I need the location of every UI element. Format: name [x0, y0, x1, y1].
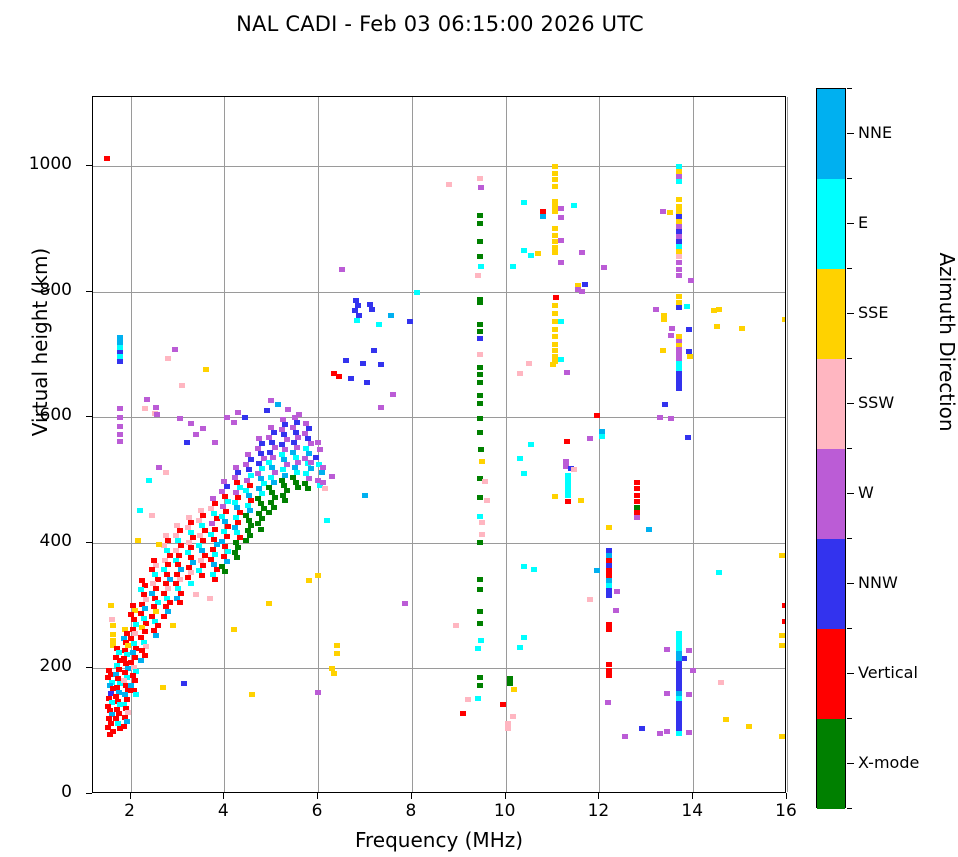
echo-point	[475, 273, 481, 278]
echo-point	[104, 156, 110, 161]
echo-point	[594, 413, 600, 418]
echo-point	[606, 673, 612, 678]
echo-point	[779, 633, 785, 638]
colorbar-label-nne: NNE	[858, 123, 892, 142]
echo-point	[660, 348, 666, 353]
x-tick-label: 4	[201, 801, 245, 821]
echo-point	[477, 393, 483, 398]
echo-point	[477, 683, 483, 688]
echo-point	[200, 426, 206, 431]
echo-point	[477, 577, 483, 582]
echo-point	[535, 251, 541, 256]
echo-point	[369, 307, 375, 312]
echo-point	[475, 646, 481, 651]
echo-point	[407, 319, 413, 324]
echo-point	[295, 485, 301, 490]
colorbar-boundary-tick	[847, 268, 852, 269]
echo-point	[782, 603, 785, 608]
echo-point	[153, 405, 159, 410]
echo-point	[582, 282, 588, 287]
echo-point	[668, 416, 674, 421]
echo-point	[460, 711, 466, 716]
echo-point	[315, 690, 321, 695]
echo-point	[477, 336, 483, 341]
ionogram-figure: { "title": "NAL CADI - Feb 03 06:15:00 2…	[0, 0, 958, 857]
echo-point	[477, 221, 483, 226]
echo-point	[135, 538, 141, 543]
echo-point	[664, 729, 670, 734]
echo-point	[117, 415, 123, 420]
y-tick	[86, 542, 92, 543]
x-tick-label: 12	[576, 801, 620, 821]
echo-point	[154, 412, 160, 417]
echo-point	[528, 253, 534, 258]
echo-point	[478, 185, 484, 190]
echo-point	[484, 498, 490, 503]
echo-point	[149, 513, 155, 518]
echo-point	[690, 668, 696, 673]
echo-point	[686, 692, 692, 697]
echo-point	[521, 635, 527, 640]
echo-point	[676, 731, 682, 736]
echo-point	[243, 538, 249, 543]
echo-point	[552, 233, 558, 238]
colorbar	[816, 88, 846, 808]
echo-point	[676, 254, 682, 259]
echo-point	[685, 435, 691, 440]
x-tick-label: 16	[764, 801, 808, 821]
echo-point	[661, 317, 667, 322]
echo-point	[477, 540, 483, 545]
echo-point	[331, 671, 337, 676]
echo-point	[371, 348, 377, 353]
echo-point	[711, 308, 717, 313]
echo-point	[676, 273, 682, 278]
echo-point	[177, 416, 183, 421]
echo-point	[109, 617, 115, 622]
colorbar-boundary-tick	[847, 538, 852, 539]
y-axis-title: Virtual height (km)	[28, 177, 52, 507]
echo-point	[188, 581, 194, 586]
echo-point	[684, 304, 690, 309]
echo-point	[170, 623, 176, 628]
echo-point	[553, 295, 559, 300]
echo-point	[477, 322, 483, 327]
echo-point	[686, 648, 692, 653]
echo-point	[521, 200, 527, 205]
echo-point	[475, 696, 481, 701]
echo-point	[517, 645, 523, 650]
y-tick	[86, 416, 92, 417]
echo-point	[479, 532, 485, 537]
echo-point	[266, 601, 272, 606]
echo-point	[477, 176, 483, 181]
echo-point	[477, 609, 483, 614]
plot-area	[92, 96, 786, 793]
echo-point	[172, 347, 178, 352]
colorbar-boundary-tick	[847, 358, 852, 359]
echo-point	[676, 294, 682, 299]
echo-point	[479, 520, 485, 525]
echo-point	[552, 494, 558, 499]
echo-point	[313, 455, 319, 460]
x-tick	[786, 793, 787, 799]
colorbar-tick	[847, 493, 854, 494]
y-tick	[86, 793, 92, 794]
echo-point	[558, 260, 564, 265]
colorbar-segment-nne	[817, 89, 845, 179]
echo-point	[552, 348, 558, 353]
echo-point	[364, 380, 370, 385]
colorbar-label-nnw: NNW	[858, 573, 898, 592]
echo-point	[477, 416, 483, 421]
echo-point	[188, 421, 194, 426]
echo-point	[478, 638, 484, 643]
y-tick-label: 400	[0, 531, 72, 551]
x-tick	[411, 793, 412, 799]
echo-point	[517, 456, 523, 461]
echo-point	[664, 691, 670, 696]
echo-point	[662, 402, 668, 407]
echo-point	[521, 471, 527, 476]
echo-point	[601, 265, 607, 270]
echo-point	[634, 480, 640, 485]
colorbar-segment-x-mode	[817, 719, 845, 809]
echo-point	[317, 447, 323, 452]
echo-point	[224, 415, 230, 420]
echo-point	[177, 600, 183, 605]
echo-point	[646, 527, 652, 532]
colorbar-label-vertical: Vertical	[858, 663, 918, 682]
echo-point	[362, 493, 368, 498]
echo-point	[137, 508, 143, 513]
echo-point	[676, 305, 682, 310]
echo-point	[565, 499, 571, 504]
echo-point	[117, 432, 123, 437]
y-tick	[86, 291, 92, 292]
echo-point	[322, 486, 328, 491]
echo-point	[739, 326, 745, 331]
echo-point	[552, 319, 558, 324]
echo-point	[746, 724, 752, 729]
echo-point	[179, 383, 185, 388]
echo-point	[599, 434, 605, 439]
echo-point	[339, 267, 345, 272]
x-tick	[598, 793, 599, 799]
echo-point	[320, 465, 326, 470]
echo-point	[378, 362, 384, 367]
echo-point	[634, 486, 640, 491]
echo-point	[477, 495, 483, 500]
echo-point	[477, 329, 483, 334]
echo-point	[376, 322, 382, 327]
echo-point	[477, 380, 483, 385]
echo-point	[478, 264, 484, 269]
echo-point	[718, 680, 724, 685]
colorbar-tick	[847, 403, 854, 404]
echo-point	[552, 342, 558, 347]
echo-point	[193, 592, 199, 597]
echo-point	[517, 371, 523, 376]
echo-point	[575, 287, 581, 292]
colorbar-label-ssw: SSW	[858, 393, 894, 412]
echo-point	[552, 171, 558, 176]
echo-point	[510, 714, 516, 719]
echo-point	[606, 627, 612, 632]
echo-point	[664, 647, 670, 652]
echo-point	[249, 692, 255, 697]
echo-point	[144, 397, 150, 402]
echo-point	[571, 467, 577, 472]
echo-point	[613, 608, 619, 613]
gridline-vertical	[787, 97, 788, 792]
colorbar-segment-e	[817, 179, 845, 269]
echo-point	[521, 564, 527, 569]
echo-point	[477, 365, 483, 370]
x-axis-title: Frequency (MHz)	[92, 828, 786, 852]
echo-point	[500, 702, 506, 707]
echo-point	[477, 254, 483, 259]
echo-point	[199, 573, 205, 578]
echo-point	[477, 514, 483, 519]
echo-point	[264, 408, 270, 413]
echo-point	[634, 499, 640, 504]
echo-point	[552, 177, 558, 182]
echo-point	[184, 440, 190, 445]
echo-point	[657, 731, 663, 736]
colorbar-segment-w	[817, 449, 845, 539]
colorbar-label-sse: SSE	[858, 303, 888, 322]
echo-point	[477, 675, 483, 680]
echo-point	[160, 685, 166, 690]
echo-point	[234, 555, 240, 560]
echo-point	[660, 209, 666, 214]
colorbar-label-x-mode: X-mode	[858, 753, 919, 772]
colorbar-tick	[847, 673, 854, 674]
echo-point	[653, 307, 659, 312]
colorbar-label-e: E	[858, 213, 868, 232]
echo-point	[587, 436, 593, 441]
colorbar-title: Azimuth Direction	[935, 177, 958, 507]
echo-point	[782, 317, 785, 322]
echo-point	[552, 239, 558, 244]
echo-point	[526, 361, 532, 366]
echo-point	[477, 352, 483, 357]
x-tick	[130, 793, 131, 799]
echo-point	[320, 480, 326, 485]
echo-point	[117, 439, 123, 444]
echo-point	[354, 318, 360, 323]
ionogram-scatter-points	[93, 97, 785, 792]
echo-point	[231, 627, 237, 632]
echo-point	[686, 327, 692, 332]
echo-point	[212, 577, 218, 582]
echo-point	[414, 290, 420, 295]
echo-point	[117, 406, 123, 411]
echo-point	[306, 578, 312, 583]
echo-point	[668, 333, 674, 338]
echo-point	[110, 623, 116, 628]
colorbar-tick	[847, 223, 854, 224]
echo-point	[477, 621, 483, 626]
colorbar-tick	[847, 763, 854, 764]
echo-point	[453, 623, 459, 628]
echo-point	[296, 412, 302, 417]
echo-point	[552, 250, 558, 255]
echo-point	[305, 486, 311, 491]
echo-point	[207, 596, 213, 601]
echo-point	[319, 470, 325, 475]
echo-point	[723, 717, 729, 722]
echo-point	[390, 392, 396, 397]
echo-point	[614, 589, 620, 594]
echo-point	[285, 407, 291, 412]
echo-point	[552, 164, 558, 169]
echo-point	[275, 402, 281, 407]
echo-point	[242, 415, 248, 420]
echo-point	[324, 518, 330, 523]
echo-point	[334, 651, 340, 656]
echo-point	[108, 603, 114, 608]
echo-point	[117, 359, 123, 364]
echo-point	[117, 424, 123, 429]
echo-point	[336, 374, 342, 379]
echo-point	[266, 510, 272, 515]
echo-point	[686, 730, 692, 735]
echo-point	[212, 440, 218, 445]
echo-point	[639, 726, 645, 731]
echo-point	[687, 354, 693, 359]
echo-point	[133, 692, 139, 697]
colorbar-segment-ssw	[817, 359, 845, 449]
x-tick	[317, 793, 318, 799]
colorbar-boundary-tick	[847, 628, 852, 629]
echo-point	[552, 184, 558, 189]
echo-point	[716, 570, 722, 575]
echo-point	[477, 372, 483, 377]
echo-point	[688, 278, 694, 283]
echo-point	[606, 662, 612, 667]
echo-point	[231, 420, 237, 425]
echo-point	[558, 357, 564, 362]
echo-point	[552, 311, 558, 316]
echo-point	[142, 406, 148, 411]
echo-point	[235, 410, 241, 415]
echo-point	[308, 460, 314, 465]
echo-point	[579, 250, 585, 255]
echo-point	[558, 206, 564, 211]
echo-point	[714, 324, 720, 329]
echo-point	[138, 658, 144, 663]
echo-point	[107, 732, 113, 737]
echo-point	[676, 260, 682, 265]
echo-point	[564, 439, 570, 444]
echo-point	[348, 376, 354, 381]
echo-point	[282, 498, 288, 503]
echo-point	[552, 327, 558, 332]
colorbar-tick	[847, 133, 854, 134]
echo-point	[552, 303, 558, 308]
echo-point	[676, 179, 682, 184]
y-tick	[86, 667, 92, 668]
echo-point	[477, 430, 483, 435]
echo-point	[329, 474, 335, 479]
echo-point	[477, 300, 483, 305]
echo-point	[268, 398, 274, 403]
x-tick	[223, 793, 224, 799]
echo-point	[163, 470, 169, 475]
colorbar-boundary-tick	[847, 88, 852, 89]
echo-point	[343, 358, 349, 363]
echo-point	[669, 326, 675, 331]
x-tick-label: 14	[670, 801, 714, 821]
echo-point	[446, 182, 452, 187]
echo-point	[558, 238, 564, 243]
colorbar-boundary-tick	[847, 178, 852, 179]
echo-point	[552, 226, 558, 231]
echo-point	[578, 498, 584, 503]
x-tick	[505, 793, 506, 799]
x-tick	[692, 793, 693, 799]
x-tick-label: 8	[389, 801, 433, 821]
echo-point	[552, 209, 558, 214]
echo-point	[657, 415, 663, 420]
echo-point	[121, 724, 127, 729]
colorbar-tick	[847, 583, 854, 584]
echo-point	[782, 619, 785, 624]
page-title: NAL CADI - Feb 03 06:15:00 2026 UTC	[0, 12, 880, 36]
echo-point	[622, 734, 628, 739]
echo-point	[634, 515, 640, 520]
echo-point	[402, 601, 408, 606]
echo-point	[315, 573, 321, 578]
x-tick-label: 2	[108, 801, 152, 821]
y-tick-label: 1000	[0, 154, 72, 174]
echo-point	[334, 643, 340, 648]
colorbar-label-w: W	[858, 483, 874, 502]
echo-point	[479, 459, 485, 464]
echo-point	[378, 405, 384, 410]
echo-point	[153, 633, 159, 638]
colorbar-tick	[847, 313, 854, 314]
echo-point	[676, 267, 682, 272]
echo-point	[511, 687, 517, 692]
echo-point	[676, 386, 682, 391]
echo-point	[507, 681, 513, 686]
echo-point	[540, 214, 546, 219]
echo-point	[521, 248, 527, 253]
colorbar-boundary-tick	[847, 448, 852, 449]
echo-point	[156, 465, 162, 470]
echo-point	[465, 697, 471, 702]
echo-point	[193, 432, 199, 437]
echo-point	[571, 203, 577, 208]
echo-point	[594, 568, 600, 573]
echo-point	[565, 493, 571, 498]
y-tick	[86, 165, 92, 166]
echo-point	[161, 614, 167, 619]
y-tick-label: 200	[0, 656, 72, 676]
echo-point	[779, 553, 785, 558]
echo-point	[558, 319, 564, 324]
echo-point	[165, 356, 171, 361]
echo-point	[477, 213, 483, 218]
echo-point	[181, 681, 187, 686]
echo-point	[606, 525, 612, 530]
echo-point	[634, 493, 640, 498]
echo-point	[605, 700, 611, 705]
colorbar-boundary-tick	[847, 718, 852, 719]
